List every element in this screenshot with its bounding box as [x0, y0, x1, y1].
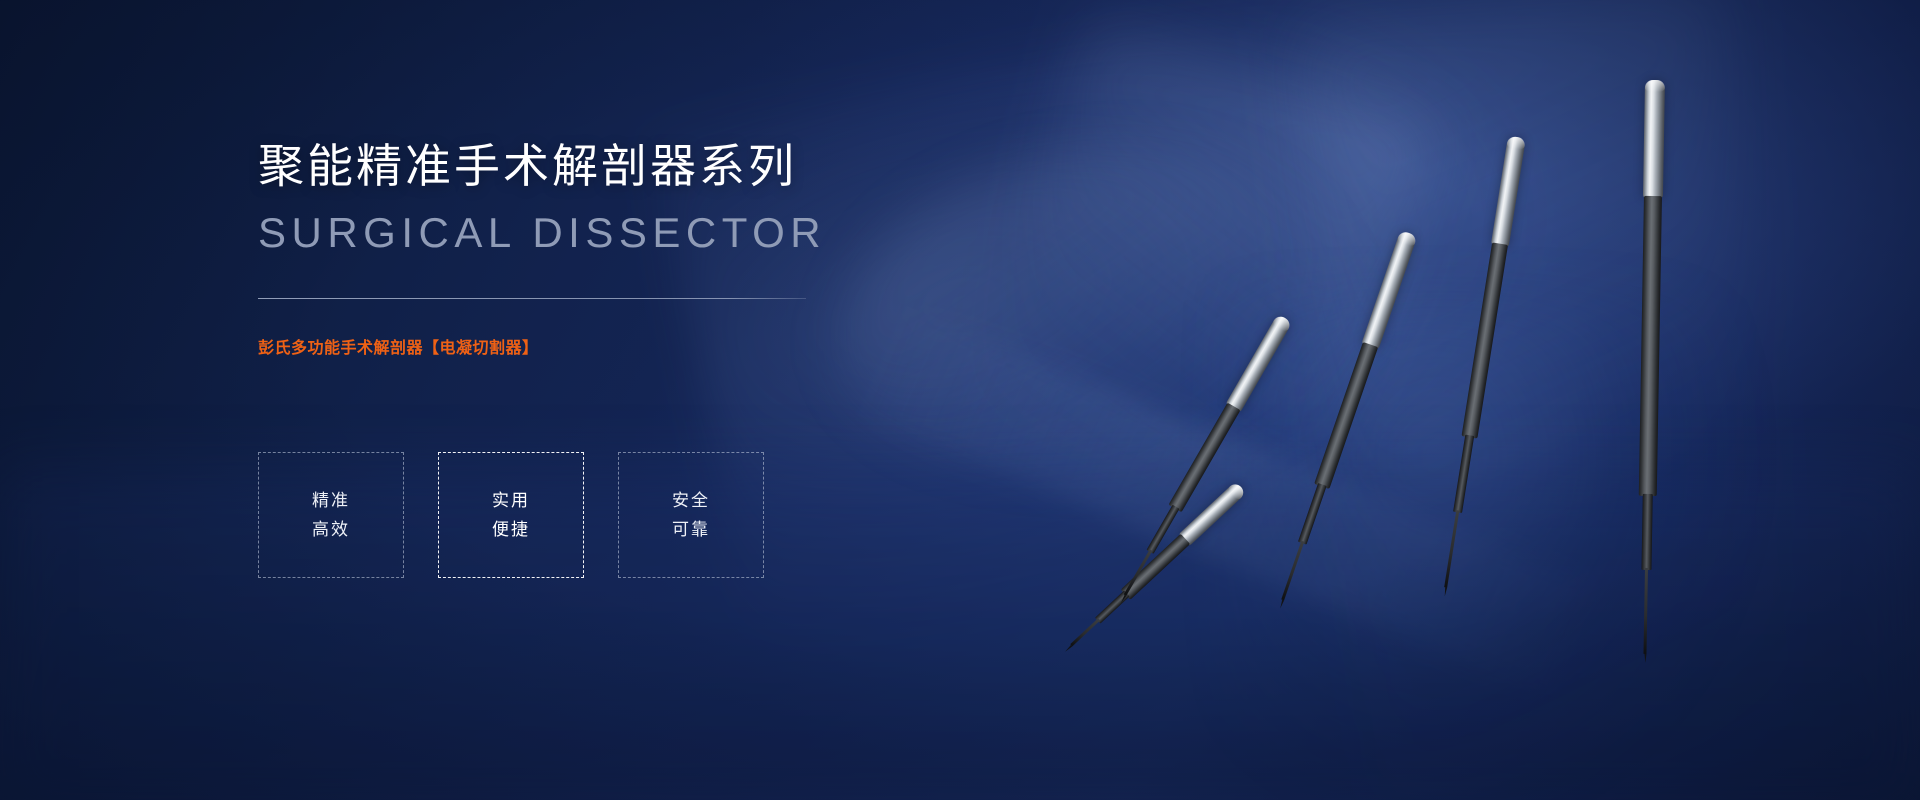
feature-badge-safety[interactable]: 安全 可靠 [618, 452, 764, 578]
instrument-handle-2 [1226, 314, 1293, 413]
feature-badge-practical-line2: 便捷 [492, 521, 530, 538]
surgical-dissector-2 [1109, 312, 1297, 611]
instrument-shaft-4 [1462, 242, 1508, 438]
instrument-tip-1 [1070, 618, 1100, 646]
feature-badge-practical-line1: 实用 [492, 492, 530, 509]
feature-badge-precision-line1: 精准 [312, 492, 350, 509]
feature-badge-safety-line1: 安全 [672, 492, 710, 509]
instrument-handle-4 [1491, 136, 1526, 247]
feature-badge-list: 精准 高效 实用 便捷 安全 可靠 [258, 452, 764, 578]
surgical-dissector-4 [1429, 135, 1530, 613]
feature-badge-precision[interactable]: 精准 高效 [258, 452, 404, 578]
instrument-neck-5 [1641, 494, 1652, 570]
background-glove-shape [840, 150, 1360, 480]
title-divider [258, 298, 806, 299]
instrument-shaft-5 [1639, 196, 1662, 496]
banner-subtitle-product-name: 彭氏多功能手术解剖器【电凝切割器】 [258, 341, 539, 357]
instrument-handle-1 [1178, 481, 1246, 546]
banner-title-english: SURGICAL DISSECTOR [258, 212, 826, 254]
background-forceps-streak [858, 304, 1589, 692]
instrument-tip-3 [1281, 541, 1304, 601]
background-hand-shape [964, 15, 1436, 526]
instrument-shaft-3 [1314, 342, 1378, 489]
instrument-handle-5 [1643, 80, 1665, 198]
banner-text-block: 聚能精准手术解剖器系列 SURGICAL DISSECTOR 彭氏多功能手术解剖… [258, 0, 878, 800]
instrument-neck-1 [1095, 590, 1130, 623]
instrument-neck-3 [1298, 483, 1327, 545]
instrument-tip-5 [1643, 568, 1648, 654]
surgical-dissector-5 [1630, 80, 1670, 660]
surgical-dissector-1 [1057, 477, 1250, 660]
instrument-neck-2 [1147, 505, 1180, 554]
instrument-tip-4 [1444, 510, 1459, 588]
instrument-handle-3 [1361, 230, 1417, 349]
feature-badge-practical[interactable]: 实用 便捷 [438, 452, 584, 578]
instrument-tip-2 [1124, 549, 1153, 596]
banner-title-chinese: 聚能精准手术解剖器系列 [258, 143, 797, 189]
instrument-shaft-2 [1169, 403, 1241, 513]
feature-badge-safety-line2: 可靠 [672, 521, 710, 538]
instrument-neck-4 [1453, 435, 1474, 513]
background-glow-2 [1230, 300, 1750, 800]
feature-badge-precision-line2: 高效 [312, 521, 350, 538]
background-light-beam [1299, 0, 1800, 800]
instrument-shaft-1 [1121, 534, 1191, 600]
product-hero-banner: 聚能精准手术解剖器系列 SURGICAL DISSECTOR 彭氏多功能手术解剖… [0, 0, 1920, 800]
surgical-dissector-3 [1266, 229, 1421, 616]
